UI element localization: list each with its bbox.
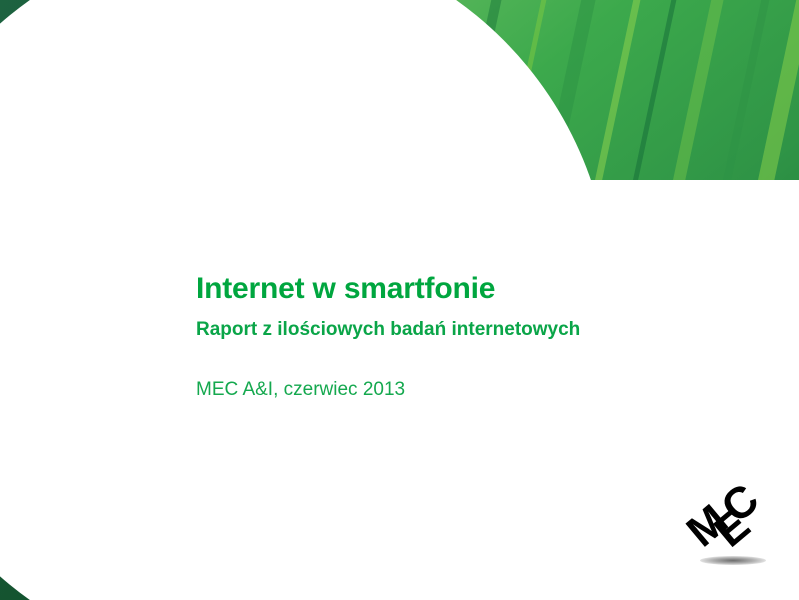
title-slide: Internet w smartfonie Raport z ilościowy…: [0, 0, 799, 600]
page-subtitle: Raport z ilościowych badań internetowych: [196, 319, 716, 341]
author-date-line: MEC A&I, czerwiec 2013: [196, 379, 716, 401]
title-text-block: Internet w smartfonie Raport z ilościowy…: [196, 272, 716, 401]
hexagon-pattern: [0, 0, 132, 334]
page-title: Internet w smartfonie: [196, 272, 716, 305]
logo-letters: M E C: [660, 446, 799, 590]
mec-logo: M E C: [678, 470, 788, 580]
